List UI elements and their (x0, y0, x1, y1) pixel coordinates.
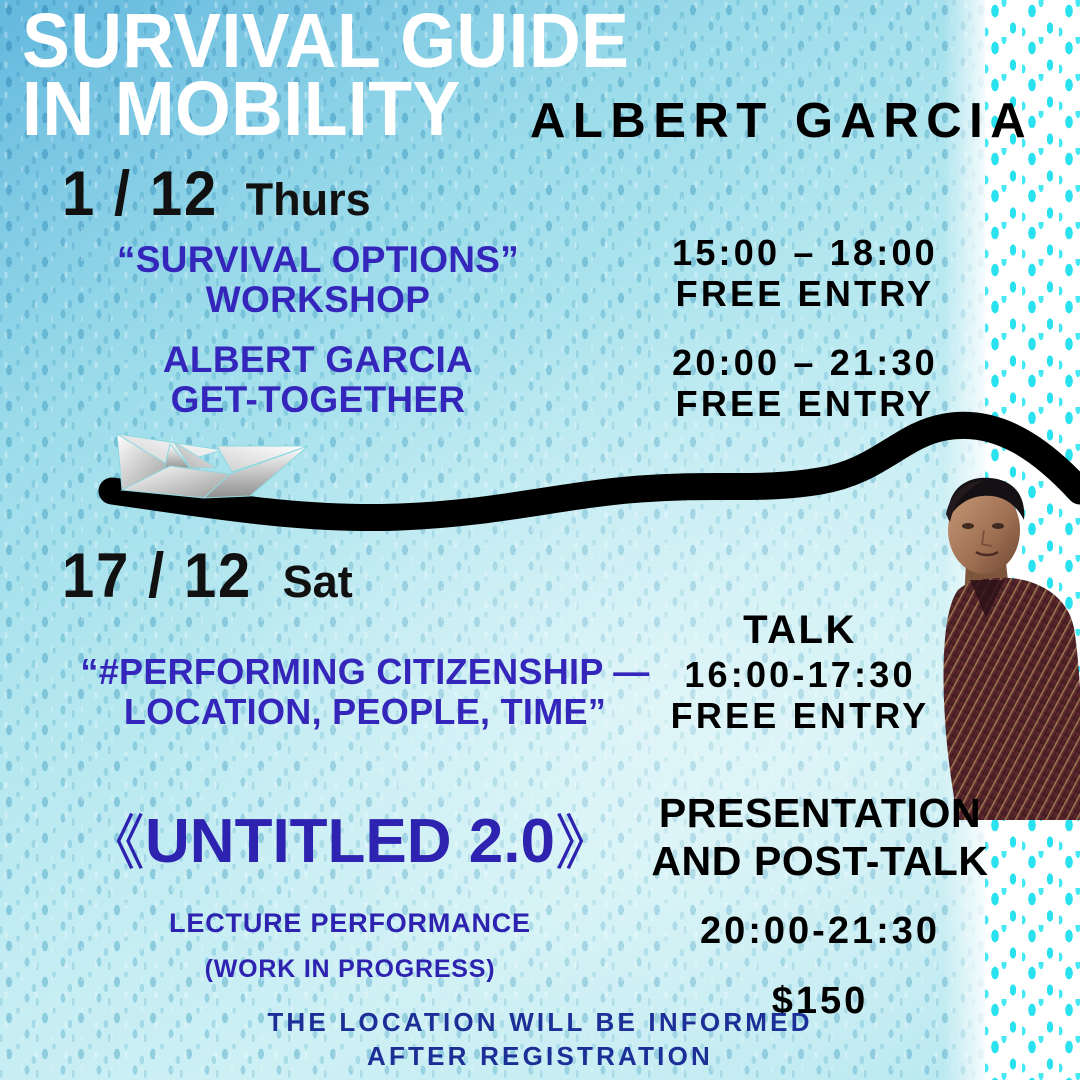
event-1-title-line-1: “SURVIVAL OPTIONS” (78, 240, 558, 280)
event-4-time-block: PRESENTATION AND POST-TALK 20:00-21:30 $… (650, 790, 990, 1024)
event-4-kind-line-1: PRESENTATION (650, 790, 990, 838)
event-3-price: FREE ENTRY (650, 695, 950, 736)
event-4-kind-line-2: AND POST-TALK (650, 838, 990, 886)
event-3-title-line-2: LOCATION, PEOPLE, TIME” (55, 692, 675, 732)
event-2-price: FREE ENTRY (640, 383, 970, 424)
event-2-title-line-2: GET-TOGETHER (78, 380, 558, 420)
footer-line-1: THE LOCATION WILL BE INFORMED (0, 1006, 1080, 1040)
weekday-day-1: Thurs (246, 174, 371, 225)
paper-boat-icon (112, 424, 327, 514)
event-4-title-block: 《UNTITLED 2.0》 LECTURE PERFORMANCE (WORK… (40, 793, 660, 984)
event-3-title-line-1: “#PERFORMING CITIZENSHIP — (55, 652, 675, 692)
artist-name: ALBERT GARCIA (530, 93, 1033, 149)
date-number-day-2: 17 / 12 (62, 540, 252, 612)
event-2-title-line-1: ALBERT GARCIA (78, 340, 558, 380)
event-poster: SURVIVAL GUIDE IN MOBILITY ALBERT GARCIA… (0, 0, 1080, 1080)
event-2-time-block: 20:00 – 21:30 FREE ENTRY (640, 342, 970, 424)
event-3-kind: TALK (650, 608, 950, 654)
event-1-time-block: 15:00 – 18:00 FREE ENTRY (640, 232, 970, 314)
footer-line-2: AFTER REGISTRATION (0, 1040, 1080, 1074)
event-3-time: 16:00-17:30 (650, 654, 950, 695)
bracket-close-icon: 》 (555, 810, 615, 877)
date-row-day-1: 1 / 12Thurs (62, 158, 371, 230)
event-4-subtitle-2: (WORK IN PROGRESS) (40, 955, 660, 984)
event-4-title: UNTITLED 2.0 (145, 807, 555, 876)
event-3-time-block: TALK 16:00-17:30 FREE ENTRY (650, 608, 950, 736)
footer-note: THE LOCATION WILL BE INFORMED AFTER REGI… (0, 1006, 1080, 1074)
event-2-time: 20:00 – 21:30 (640, 342, 970, 383)
event-4-time: 20:00-21:30 (650, 909, 990, 955)
event-3-title-block: “#PERFORMING CITIZENSHIP — LOCATION, PEO… (55, 652, 675, 733)
date-row-day-2: 17 / 12Sat (62, 540, 353, 612)
date-number-day-1: 1 / 12 (62, 158, 218, 230)
weekday-day-2: Sat (283, 556, 353, 607)
event-1-price: FREE ENTRY (640, 273, 970, 314)
event-1-time: 15:00 – 18:00 (640, 232, 970, 273)
bracket-open-icon: 《 (85, 810, 145, 877)
event-1-title-block: “SURVIVAL OPTIONS” WORKSHOP (78, 240, 558, 319)
event-2-title-block: ALBERT GARCIA GET-TOGETHER (78, 340, 558, 419)
event-4-title-line: 《UNTITLED 2.0》 (40, 793, 660, 880)
event-1-title-line-2: WORKSHOP (78, 280, 558, 320)
event-4-subtitle-1: LECTURE PERFORMANCE (40, 908, 660, 939)
